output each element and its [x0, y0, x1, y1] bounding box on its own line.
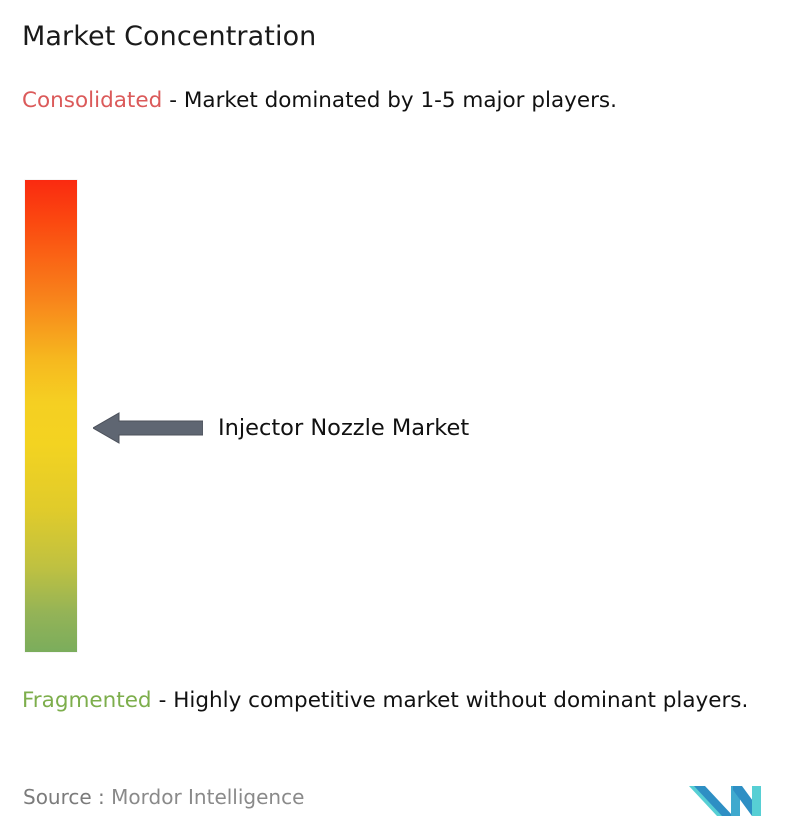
market-marker-label: Injector Nozzle Market: [218, 413, 469, 443]
source-value: Mordor Intelligence: [111, 785, 304, 809]
source-label: Source :: [23, 785, 105, 809]
market-marker: Injector Nozzle Market: [93, 411, 469, 445]
mordor-intelligence-logo: [689, 786, 761, 816]
fragmented-term: Fragmented: [22, 688, 152, 713]
top-description-text: Market dominated by 1-5 major players.: [184, 88, 617, 113]
top-description: Consolidated- Market dominated by 1-5 ma…: [22, 86, 772, 115]
top-description-separator: -: [169, 88, 177, 113]
consolidated-term: Consolidated: [22, 88, 162, 113]
bottom-description-separator: -: [159, 688, 167, 713]
bottom-description-text: Highly competitive market without domina…: [173, 688, 748, 713]
source-line: Source : Mordor Intelligence: [23, 784, 304, 810]
bottom-description: Fragmented- Highly competitive market wi…: [22, 686, 782, 715]
page-title: Market Concentration: [22, 20, 316, 54]
concentration-gradient-bar: [25, 180, 77, 652]
arrow-left-icon: [93, 411, 203, 445]
